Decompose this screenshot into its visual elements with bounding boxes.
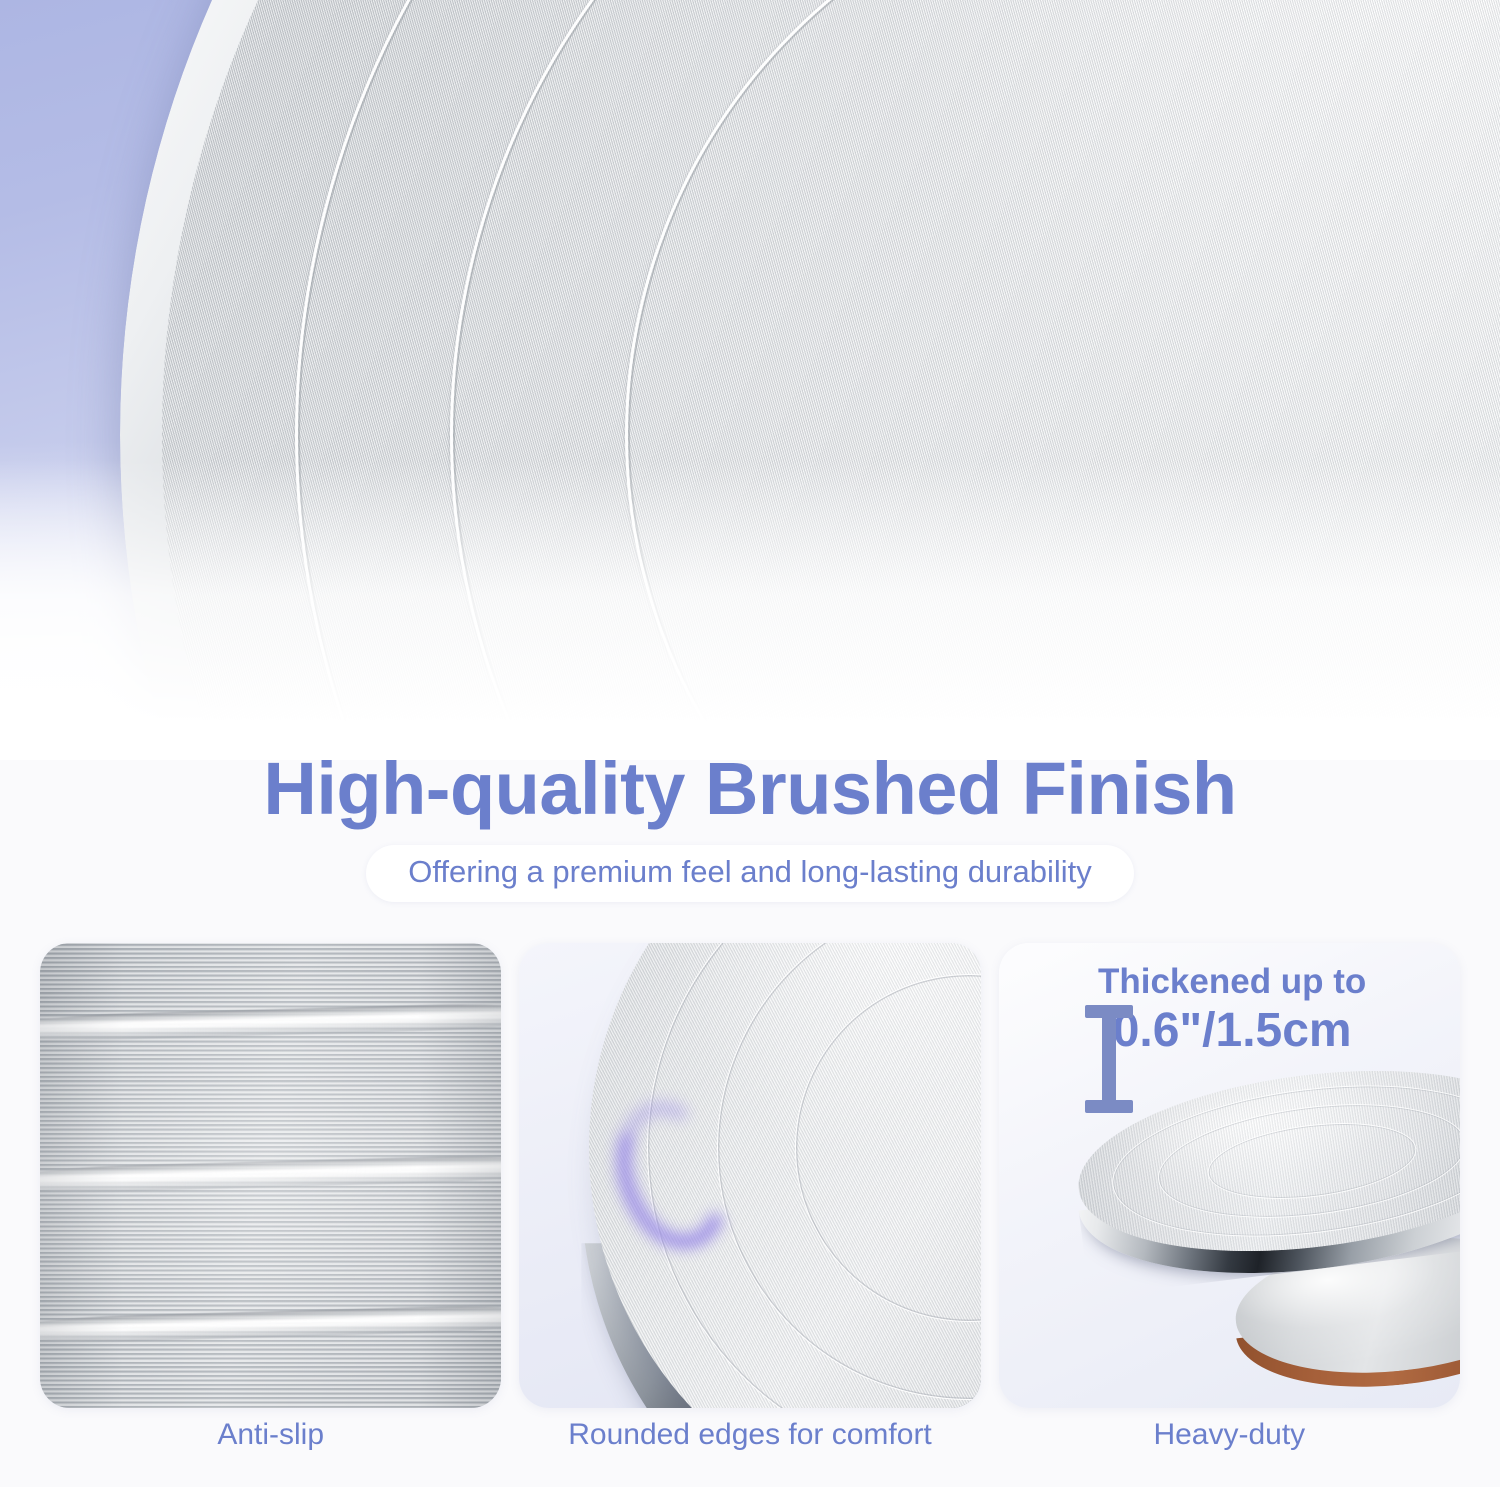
brushed-texture-overlay (162, 0, 1500, 760)
feature-card-heavy-duty[interactable]: Thickened up to 0.6"/1.5cm (999, 943, 1460, 1408)
feature-card-rounded-edges[interactable] (519, 943, 980, 1408)
surface-shading (40, 943, 501, 1408)
turntable-disc: Ohuhu (120, 0, 1500, 760)
thickness-callout: Thickened up to 0.6"/1.5cm (999, 963, 1460, 1057)
disc-brushed-face (162, 0, 1500, 760)
caption-row: Anti-slip Rounded edges for comfort Heav… (40, 1418, 1460, 1452)
caption-heavy-duty: Heavy-duty (999, 1418, 1460, 1452)
product-feature-panel: Ohuhu High-quality Brushed Finish Offeri… (0, 0, 1500, 1487)
hero-product-image: Ohuhu (0, 0, 1500, 760)
caption-rounded-edges: Rounded edges for comfort (519, 1418, 980, 1452)
thickness-measure-ibeam-icon (1083, 1003, 1135, 1115)
caption-anti-slip: Anti-slip (40, 1418, 501, 1452)
page-title: High-quality Brushed Finish (0, 752, 1500, 826)
feature-card-anti-slip[interactable] (40, 943, 501, 1408)
feature-card-row: Thickened up to 0.6"/1.5cm (40, 943, 1460, 1408)
page-subtitle: Offering a premium feel and long-lasting… (366, 845, 1134, 902)
subtitle-container: Offering a premium feel and long-lasting… (0, 845, 1500, 902)
thickness-callout-line2: 0.6"/1.5cm (999, 1005, 1460, 1057)
thickness-callout-line1: Thickened up to (999, 963, 1460, 1001)
